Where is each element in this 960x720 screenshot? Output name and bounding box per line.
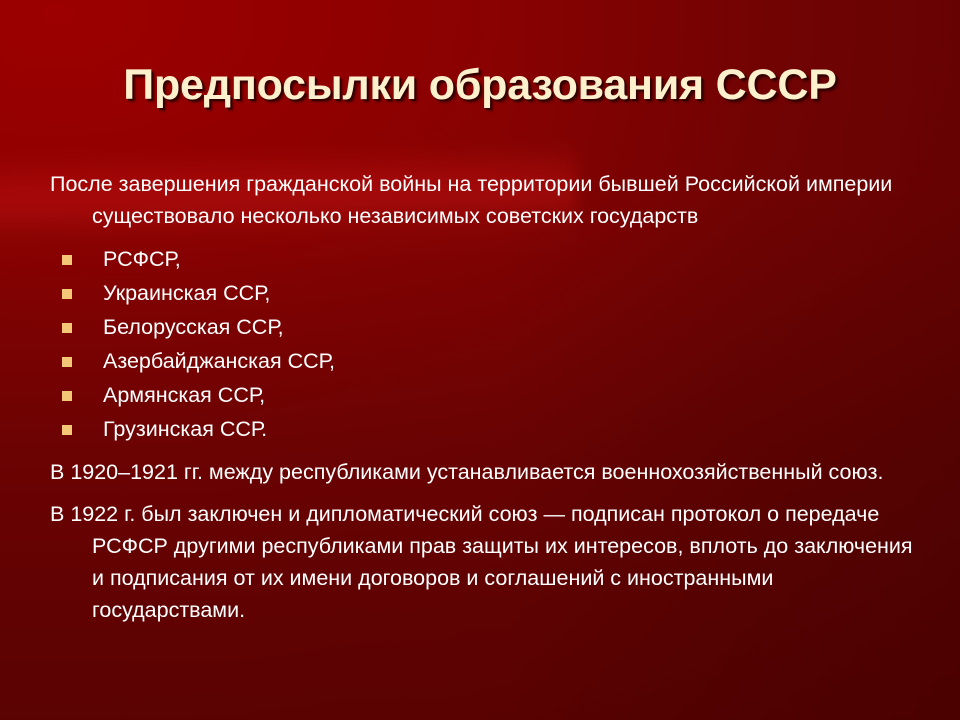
square-bullet-icon <box>62 289 72 299</box>
square-bullet-icon <box>62 425 72 435</box>
paragraph-1920-1921: В 1920–1921 гг. между республиками устан… <box>50 456 918 488</box>
square-bullet-icon <box>62 323 72 333</box>
republics-list: РСФСР, Украинская ССР, Белорусская ССР, … <box>50 242 918 446</box>
list-item-label: Азербайджанская ССР, <box>103 349 335 373</box>
spacer <box>50 234 918 238</box>
list-item: Украинская ССР, <box>50 276 918 310</box>
list-item-label: Белорусская ССР, <box>103 315 284 339</box>
list-item: Белорусская ССР, <box>50 310 918 344</box>
slide-title-container: Предпосылки образования СССР <box>0 62 960 109</box>
slide-body: После завершения гражданской войны на те… <box>50 168 918 628</box>
list-item-label: РСФСР, <box>103 247 181 271</box>
list-item-label: Армянская ССР, <box>103 383 265 407</box>
slide-canvas: Предпосылки образования СССР После завер… <box>0 0 960 720</box>
square-bullet-icon <box>62 391 72 401</box>
spacer <box>50 490 918 498</box>
intro-paragraph: После завершения гражданской войны на те… <box>50 168 918 232</box>
paragraph-1922: В 1922 г. был заключен и дипломатический… <box>50 498 918 626</box>
square-bullet-icon <box>62 357 72 367</box>
list-item: Азербайджанская ССР, <box>50 344 918 378</box>
slide-title: Предпосылки образования СССР <box>123 62 836 109</box>
list-item-label: Украинская ССР, <box>103 281 270 305</box>
list-item-label: Грузинская ССР. <box>103 417 267 441</box>
list-item: РСФСР, <box>50 242 918 276</box>
square-bullet-icon <box>62 255 72 265</box>
list-item: Грузинская ССР. <box>50 412 918 446</box>
list-item: Армянская ССР, <box>50 378 918 412</box>
